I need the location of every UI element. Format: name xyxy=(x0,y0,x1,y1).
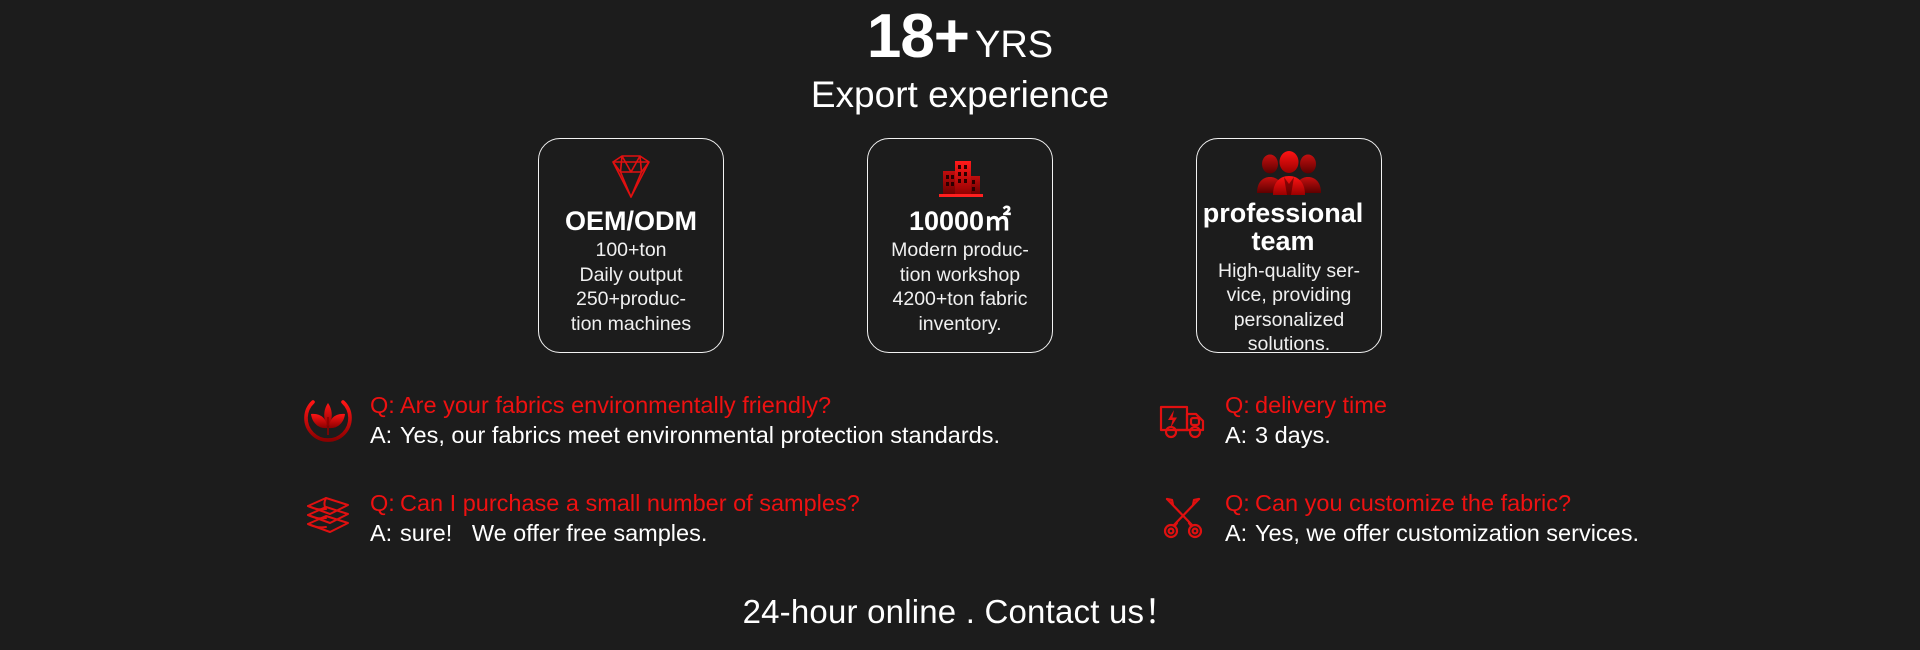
card-description: Modern produc- tion workshop 4200+ton fa… xyxy=(876,238,1044,336)
card-description: High-quality ser- vice, providing person… xyxy=(1205,259,1373,357)
faq-answer-text: 3 days. xyxy=(1255,420,1331,450)
faq-q-label: Q: xyxy=(370,390,400,420)
faq-question: Q: Can I purchase a small number of samp… xyxy=(370,488,860,518)
faq-section: Q: Are your fabrics environmentally frie… xyxy=(300,389,1700,585)
card-title: professional team xyxy=(1178,199,1388,256)
team-people-icon xyxy=(1254,151,1324,197)
delivery-truck-icon xyxy=(1155,391,1211,447)
faq-item: Q: Are your fabrics environmentally frie… xyxy=(300,389,1155,487)
faq-a-label: A: xyxy=(1225,518,1255,548)
faq-answer-text: Yes, we offer customization services. xyxy=(1255,518,1639,548)
faq-answer-text: Yes, our fabrics meet environmental prot… xyxy=(400,420,1000,450)
promo-banner: 18+ YRS Export experience xyxy=(0,0,1920,650)
faq-item: Q: delivery time A: 3 days. xyxy=(1155,389,1700,487)
years-unit: YRS xyxy=(975,26,1053,64)
feature-card-team: professional team High-quality ser- vice… xyxy=(1196,138,1382,353)
faq-a-label: A: xyxy=(1225,420,1255,450)
card-title: OEM/ODM xyxy=(565,207,697,235)
scissors-icon xyxy=(1155,489,1211,545)
feature-cards: OEM/ODM 100+ton Daily output 250+produc-… xyxy=(0,138,1920,353)
faq-text: Q: Can I purchase a small number of samp… xyxy=(370,487,860,548)
feature-card-oem-odm: OEM/ODM 100+ton Daily output 250+produc-… xyxy=(538,138,724,353)
faq-q-label: Q: xyxy=(1225,488,1255,518)
faq-q-label: Q: xyxy=(370,488,400,518)
card-title: 10000㎡ xyxy=(909,207,1011,235)
faq-question: Q: delivery time xyxy=(1225,390,1387,420)
faq-question-text: Can I purchase a small number of samples… xyxy=(400,488,860,518)
faq-q-label: Q: xyxy=(1225,390,1255,420)
faq-answer: A: sure! We offer free samples. xyxy=(370,518,860,548)
faq-text: Q: Are your fabrics environmentally frie… xyxy=(370,389,1000,450)
faq-question-text: delivery time xyxy=(1255,390,1387,420)
header-subtitle: Export experience xyxy=(0,76,1920,115)
footer-contact-text: 24-hour online . Contact us！ xyxy=(0,585,1920,633)
faq-a-label: A: xyxy=(370,518,400,548)
factory-building-icon xyxy=(931,151,989,205)
banner-header: 18+ YRS Export experience xyxy=(0,6,1920,115)
faq-a-label: A: xyxy=(370,420,400,450)
faq-answer: A: 3 days. xyxy=(1225,420,1387,450)
faq-text: Q: delivery time A: 3 days. xyxy=(1225,389,1387,450)
faq-answer: A: Yes, our fabrics meet environmental p… xyxy=(370,420,1000,450)
feature-card-workshop: 10000㎡ Modern produc- tion workshop 4200… xyxy=(867,138,1053,353)
card-description: 100+ton Daily output 250+produc- tion ma… xyxy=(547,238,715,336)
faq-item: Q: Can I purchase a small number of samp… xyxy=(300,487,1155,585)
eco-leaf-icon xyxy=(300,391,356,447)
faq-text: Q: Can you customize the fabric? A: Yes,… xyxy=(1225,487,1639,548)
faq-answer: A: Yes, we offer customization services. xyxy=(1225,518,1639,548)
faq-item: Q: Can you customize the fabric? A: Yes,… xyxy=(1155,487,1700,585)
faq-question: Q: Are your fabrics environmentally frie… xyxy=(370,390,1000,420)
faq-question-text: Are your fabrics environmentally friendl… xyxy=(400,390,831,420)
faq-question-text: Can you customize the fabric? xyxy=(1255,488,1571,518)
years-headline: 18+ YRS xyxy=(0,6,1920,68)
faq-question: Q: Can you customize the fabric? xyxy=(1225,488,1639,518)
years-number: 18+ xyxy=(867,6,969,68)
faq-answer-text: sure! We offer free samples. xyxy=(400,518,707,548)
fabric-stack-icon xyxy=(300,489,356,545)
diamond-icon xyxy=(603,151,659,205)
